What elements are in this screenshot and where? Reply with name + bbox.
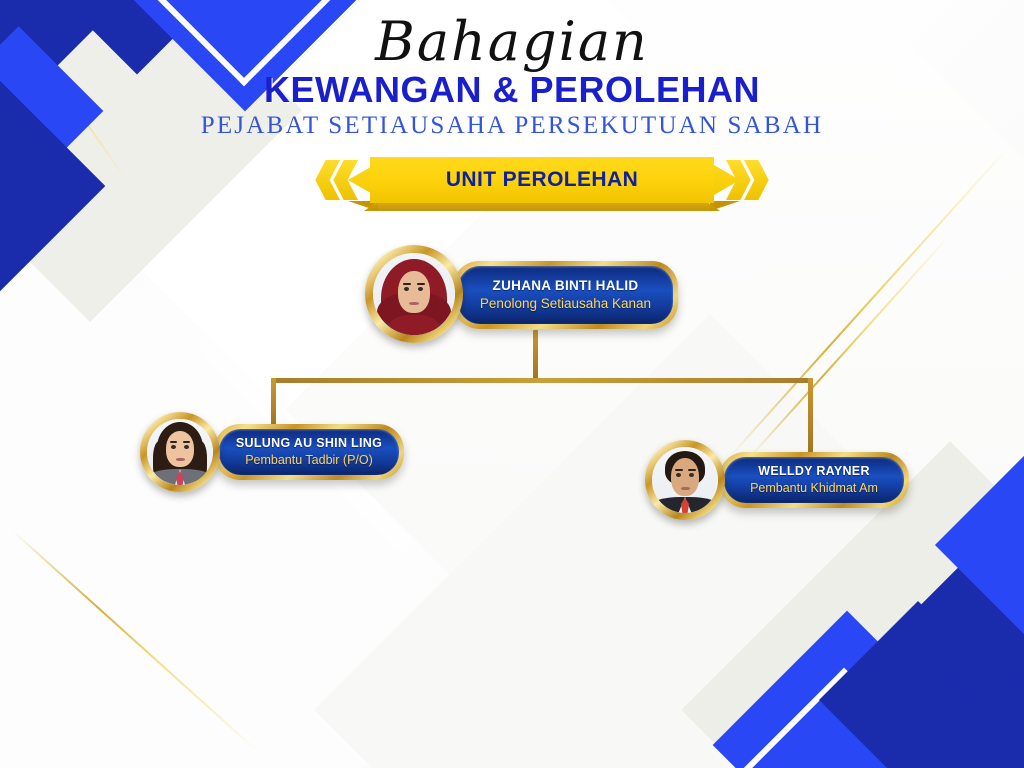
org-chart-poster: Bahagian KEWANGAN & PEROLEHAN PEJABAT SE… — [0, 0, 1024, 768]
corner-diamond-bright — [713, 611, 982, 768]
corner-chevron-white — [734, 668, 955, 768]
banner-label: UNIT PEROLEHAN — [370, 157, 714, 203]
header-script-word: Bahagian — [0, 14, 1024, 69]
corner-chevron-blue — [937, 535, 1024, 749]
org-card-child-1[interactable]: SULUNG AU SHIN LING Pembantu Tadbir (P/O… — [140, 412, 410, 494]
person-name: ZUHANA BINTI HALID — [493, 278, 639, 295]
org-card-root[interactable]: ZUHANA BINTI HALID Penolong Setiausaha K… — [365, 245, 685, 345]
avatar-ring — [365, 245, 463, 343]
portrait-zuhana — [373, 253, 455, 335]
card-plate: ZUHANA BINTI HALID Penolong Setiausaha K… — [453, 261, 678, 329]
card-plate: SULUNG AU SHIN LING Pembantu Tadbir (P/O… — [214, 424, 404, 480]
card-text: WELLDY RAYNER Pembantu Khidmat Am — [724, 457, 904, 503]
unit-banner: UNIT PEROLEHAN — [312, 157, 772, 213]
avatar — [652, 447, 718, 513]
portrait-sulung — [147, 419, 213, 485]
person-role: Pembantu Tadbir (P/O) — [245, 452, 373, 468]
page-subtitle: PEJABAT SETIAUSAHA PERSEKUTUAN SABAH — [0, 112, 1024, 140]
avatar-ring — [140, 412, 220, 492]
page-title: KEWANGAN & PEROLEHAN — [0, 71, 1024, 109]
avatar — [373, 253, 455, 335]
avatar-ring — [645, 440, 725, 520]
connector-horizontal — [271, 378, 813, 383]
gold-accent-line — [842, 564, 1017, 759]
person-role: Pembantu Khidmat Am — [750, 480, 878, 496]
person-name: WELLDY RAYNER — [758, 464, 870, 480]
card-plate: WELLDY RAYNER Pembantu Khidmat Am — [719, 452, 909, 508]
corner-diamond-dark — [901, 491, 1024, 760]
portrait-welldy — [652, 447, 718, 513]
org-card-child-2[interactable]: WELLDY RAYNER Pembantu Khidmat Am — [645, 440, 915, 522]
corner-diamond-dark — [917, 675, 1024, 768]
person-role: Penolong Setiausaha Kanan — [480, 295, 651, 313]
card-text: SULUNG AU SHIN LING Pembantu Tadbir (P/O… — [219, 429, 399, 475]
corner-diamond-bright — [935, 439, 1024, 651]
card-text: ZUHANA BINTI HALID Penolong Setiausaha K… — [458, 266, 673, 324]
corner-diamond-dark — [819, 601, 1017, 768]
person-name: SULUNG AU SHIN LING — [236, 436, 382, 452]
background-facet — [314, 314, 1024, 768]
gold-accent-line — [749, 234, 951, 458]
poster-header: Bahagian KEWANGAN & PEROLEHAN PEJABAT SE… — [0, 14, 1024, 139]
gold-accent-line — [12, 530, 259, 752]
avatar — [147, 419, 213, 485]
